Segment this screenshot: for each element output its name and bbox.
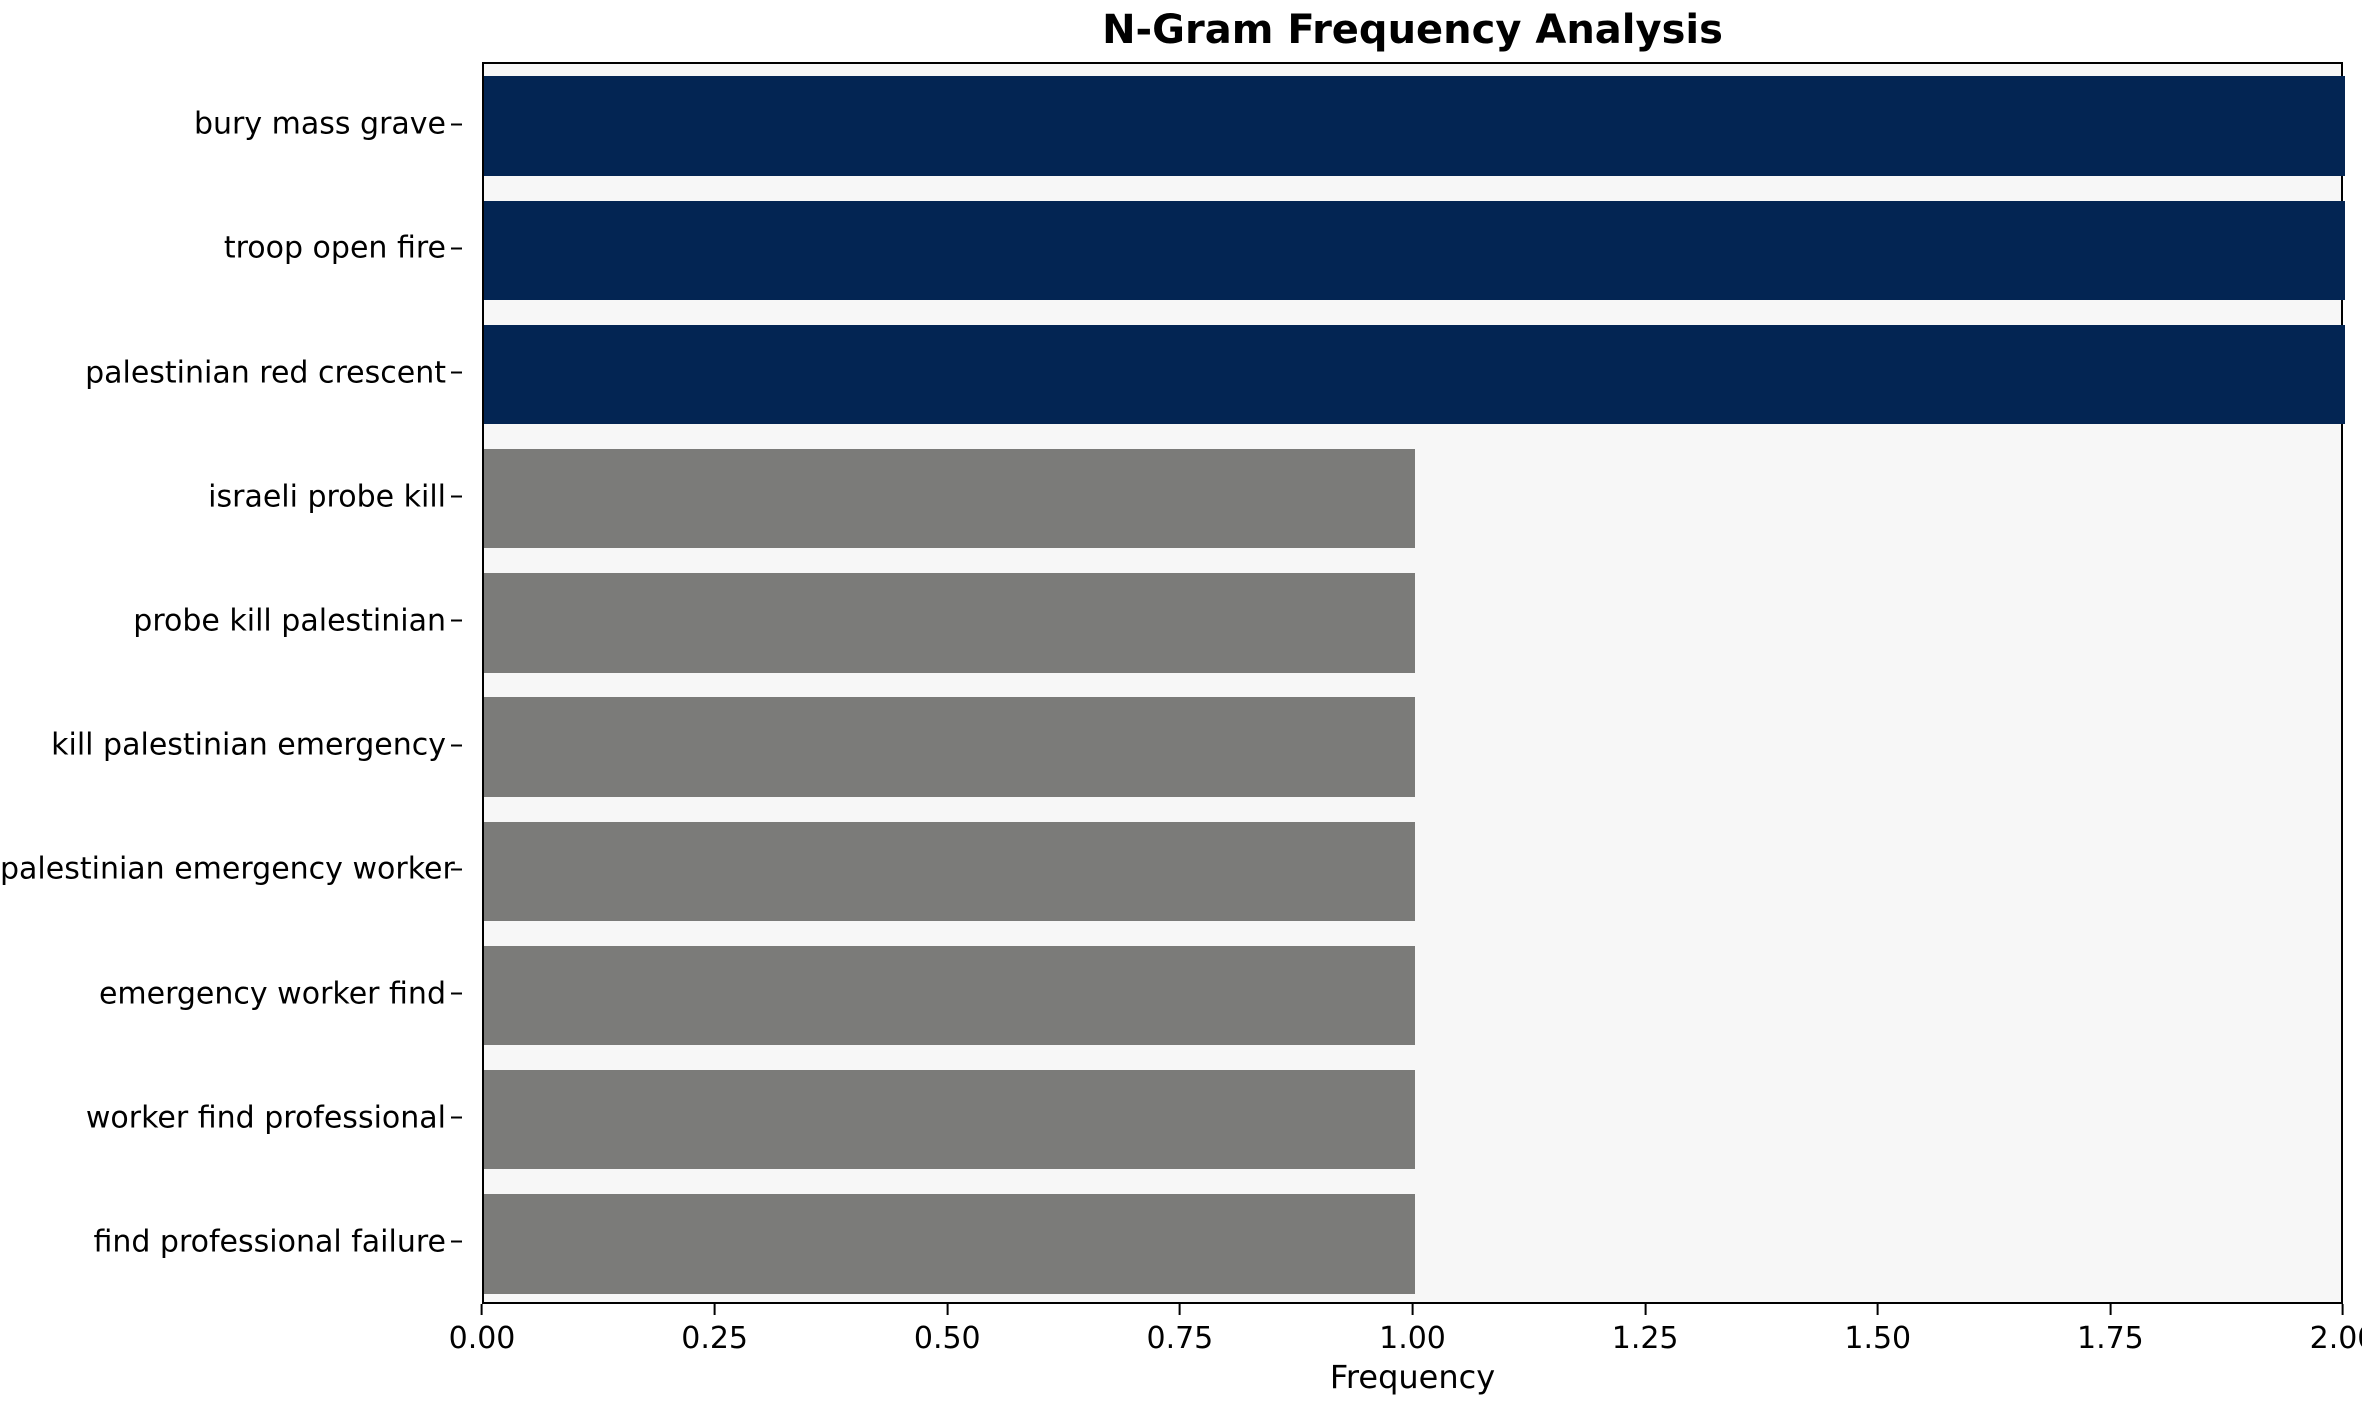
x-axis-tick-label: 1.00	[1379, 1321, 1446, 1356]
bar	[484, 449, 1415, 548]
y-axis-tick-mark	[451, 1117, 462, 1119]
y-axis-tick-labels: bury mass gravetroop open firepalestinia…	[0, 62, 462, 1304]
x-axis-tick-label: 1.25	[1612, 1321, 1679, 1356]
x-axis-tick: 0.50	[914, 1304, 981, 1356]
page-title: N-Gram Frequency Analysis	[482, 2, 2343, 58]
y-axis-tick: worker find professional	[0, 1100, 462, 1135]
y-axis-tick: probe kill palestinian	[0, 603, 462, 638]
y-axis-tick-mark	[451, 247, 462, 249]
x-axis-tick-mark	[481, 1304, 483, 1315]
y-axis-tick-mark	[451, 496, 462, 498]
y-axis-tick-mark	[451, 993, 462, 995]
y-axis-tick-label: israeli probe kill	[208, 479, 462, 514]
x-axis-tick: 1.00	[1379, 1304, 1446, 1356]
y-axis-tick: find professional failure	[0, 1224, 462, 1259]
y-axis-tick: kill palestinian emergency	[0, 728, 462, 763]
bar	[484, 325, 2345, 424]
y-axis-tick-label: palestinian red crescent	[85, 355, 462, 390]
y-axis-tick: emergency worker find	[0, 976, 462, 1011]
x-axis-tick: 0.00	[449, 1304, 516, 1356]
x-axis-tick: 2.00	[2310, 1304, 2362, 1356]
bar	[484, 822, 1415, 921]
x-axis-tick-mark	[1644, 1304, 1646, 1315]
bar	[484, 1070, 1415, 1169]
y-axis-tick-label: kill palestinian emergency	[51, 728, 462, 763]
x-axis-title: Frequency	[482, 1358, 2343, 1396]
x-axis-tick-label: 1.75	[2077, 1321, 2144, 1356]
x-axis-tick-mark	[1411, 1304, 1413, 1315]
chart-figure: N-Gram Frequency Analysis bury mass grav…	[0, 0, 2362, 1414]
y-axis-tick: troop open fire	[0, 231, 462, 266]
y-axis-tick-mark	[451, 1241, 462, 1243]
bar	[484, 946, 1415, 1045]
y-axis-tick-mark	[451, 123, 462, 125]
y-axis-tick: palestinian emergency worker	[0, 852, 462, 887]
x-axis-tick-mark	[946, 1304, 948, 1315]
y-axis-tick: palestinian red crescent	[0, 355, 462, 390]
y-axis-tick-label: probe kill palestinian	[133, 603, 462, 638]
x-axis-tick-mark	[1179, 1304, 1181, 1315]
x-axis-tick: 0.25	[681, 1304, 748, 1356]
x-axis-tick-label: 0.50	[914, 1321, 981, 1356]
x-axis-tick-label: 0.75	[1146, 1321, 1213, 1356]
x-axis-tick-mark	[2109, 1304, 2111, 1315]
y-axis-tick-label: find professional failure	[93, 1224, 462, 1259]
x-axis-tick-mark	[1877, 1304, 1879, 1315]
bar	[484, 573, 1415, 672]
x-axis-tick-label: 1.50	[1844, 1321, 1911, 1356]
bar	[484, 697, 1415, 796]
y-axis-tick: israeli probe kill	[0, 479, 462, 514]
x-axis-tick-mark	[2342, 1304, 2344, 1315]
y-axis-tick-mark	[451, 868, 462, 870]
x-axis-tick: 1.75	[2077, 1304, 2144, 1356]
y-axis-tick-mark	[451, 744, 462, 746]
y-axis-tick-label: troop open fire	[224, 231, 462, 266]
bar	[484, 201, 2345, 300]
x-axis-tick-label: 0.00	[449, 1321, 516, 1356]
x-axis-tick: 1.50	[1844, 1304, 1911, 1356]
bars-layer	[484, 64, 2341, 1302]
y-axis-tick-label: worker find professional	[86, 1100, 462, 1135]
y-axis-tick: bury mass grave	[0, 107, 462, 142]
y-axis-tick-label: palestinian emergency worker	[0, 852, 471, 887]
y-axis-tick-mark	[451, 372, 462, 374]
y-axis-tick-mark	[451, 620, 462, 622]
x-axis-tick-label: 0.25	[681, 1321, 748, 1356]
x-axis-tick: 0.75	[1146, 1304, 1213, 1356]
bar	[484, 76, 2345, 175]
y-axis-tick-label: bury mass grave	[194, 107, 462, 142]
plot-area	[482, 62, 2343, 1304]
x-axis-tick-label: 2.00	[2310, 1321, 2362, 1356]
x-axis-tick-mark	[714, 1304, 716, 1315]
x-axis-tick: 1.25	[1612, 1304, 1679, 1356]
bar	[484, 1194, 1415, 1293]
x-axis-tick-labels: 0.000.250.500.751.001.251.501.752.00	[482, 1304, 2343, 1364]
y-axis-tick-label: emergency worker find	[99, 976, 462, 1011]
